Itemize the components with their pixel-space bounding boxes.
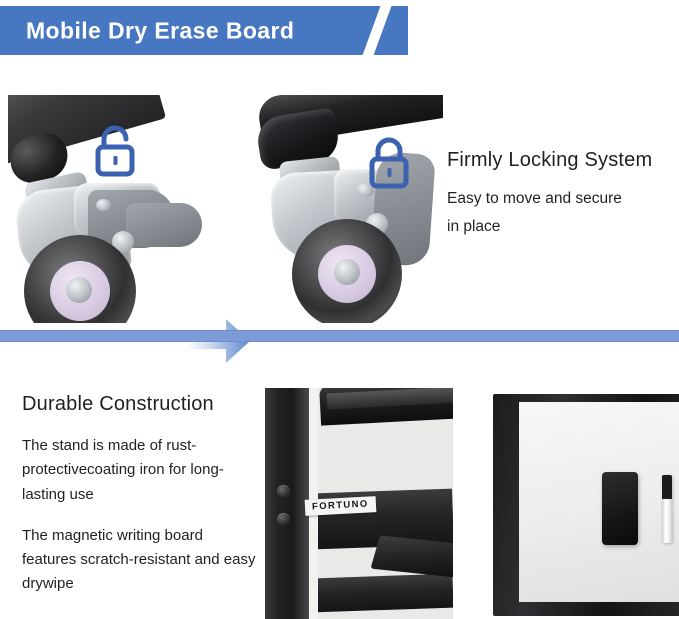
whiteboard-surface bbox=[519, 402, 679, 602]
locking-system-heading: Firmly Locking System bbox=[447, 149, 675, 172]
brake-pedal-tip[interactable] bbox=[126, 203, 202, 247]
durable-construction-paragraph-2: The magnetic writing board features scra… bbox=[22, 524, 258, 597]
durable-construction-copy: Durable Construction The stand is made o… bbox=[22, 393, 258, 614]
stand-upright-post bbox=[265, 388, 309, 619]
stand-detail-photo: FORTUNO bbox=[265, 388, 453, 619]
locking-system-section: Firmly Locking System Easy to move and s… bbox=[0, 95, 679, 330]
whiteboard-frame bbox=[493, 394, 679, 616]
stand-bolt-upper bbox=[277, 485, 290, 498]
stand-bolt-lower bbox=[277, 513, 290, 526]
whiteboard-accessories-photo bbox=[487, 388, 679, 619]
banner-slash-decoration bbox=[358, 6, 395, 55]
durable-construction-heading: Durable Construction bbox=[22, 393, 258, 416]
caster-locked-photo bbox=[238, 95, 443, 323]
locking-system-copy: Firmly Locking System Easy to move and s… bbox=[447, 149, 675, 240]
caster-wheel-axle bbox=[66, 277, 92, 303]
durable-construction-paragraph-1: The stand is made of rust-protectivecoat… bbox=[22, 434, 258, 507]
caster-wheel-axle bbox=[334, 259, 360, 285]
page-title: Mobile Dry Erase Board bbox=[26, 17, 294, 44]
durable-construction-section: Durable Construction The stand is made o… bbox=[0, 385, 679, 619]
marker-black bbox=[662, 475, 672, 543]
magnetic-eraser bbox=[602, 472, 638, 545]
stand-crossbar-lower bbox=[312, 574, 453, 613]
locking-system-line-1: Easy to move and secure bbox=[447, 185, 675, 213]
caster-unlocked-photo bbox=[8, 95, 213, 323]
locking-system-line-2: in place bbox=[447, 213, 675, 241]
header-banner: Mobile Dry Erase Board bbox=[0, 6, 408, 55]
unlock-icon bbox=[90, 123, 142, 186]
section-divider bbox=[0, 330, 679, 342]
brake-rivet bbox=[96, 199, 111, 211]
lock-icon bbox=[364, 135, 416, 198]
